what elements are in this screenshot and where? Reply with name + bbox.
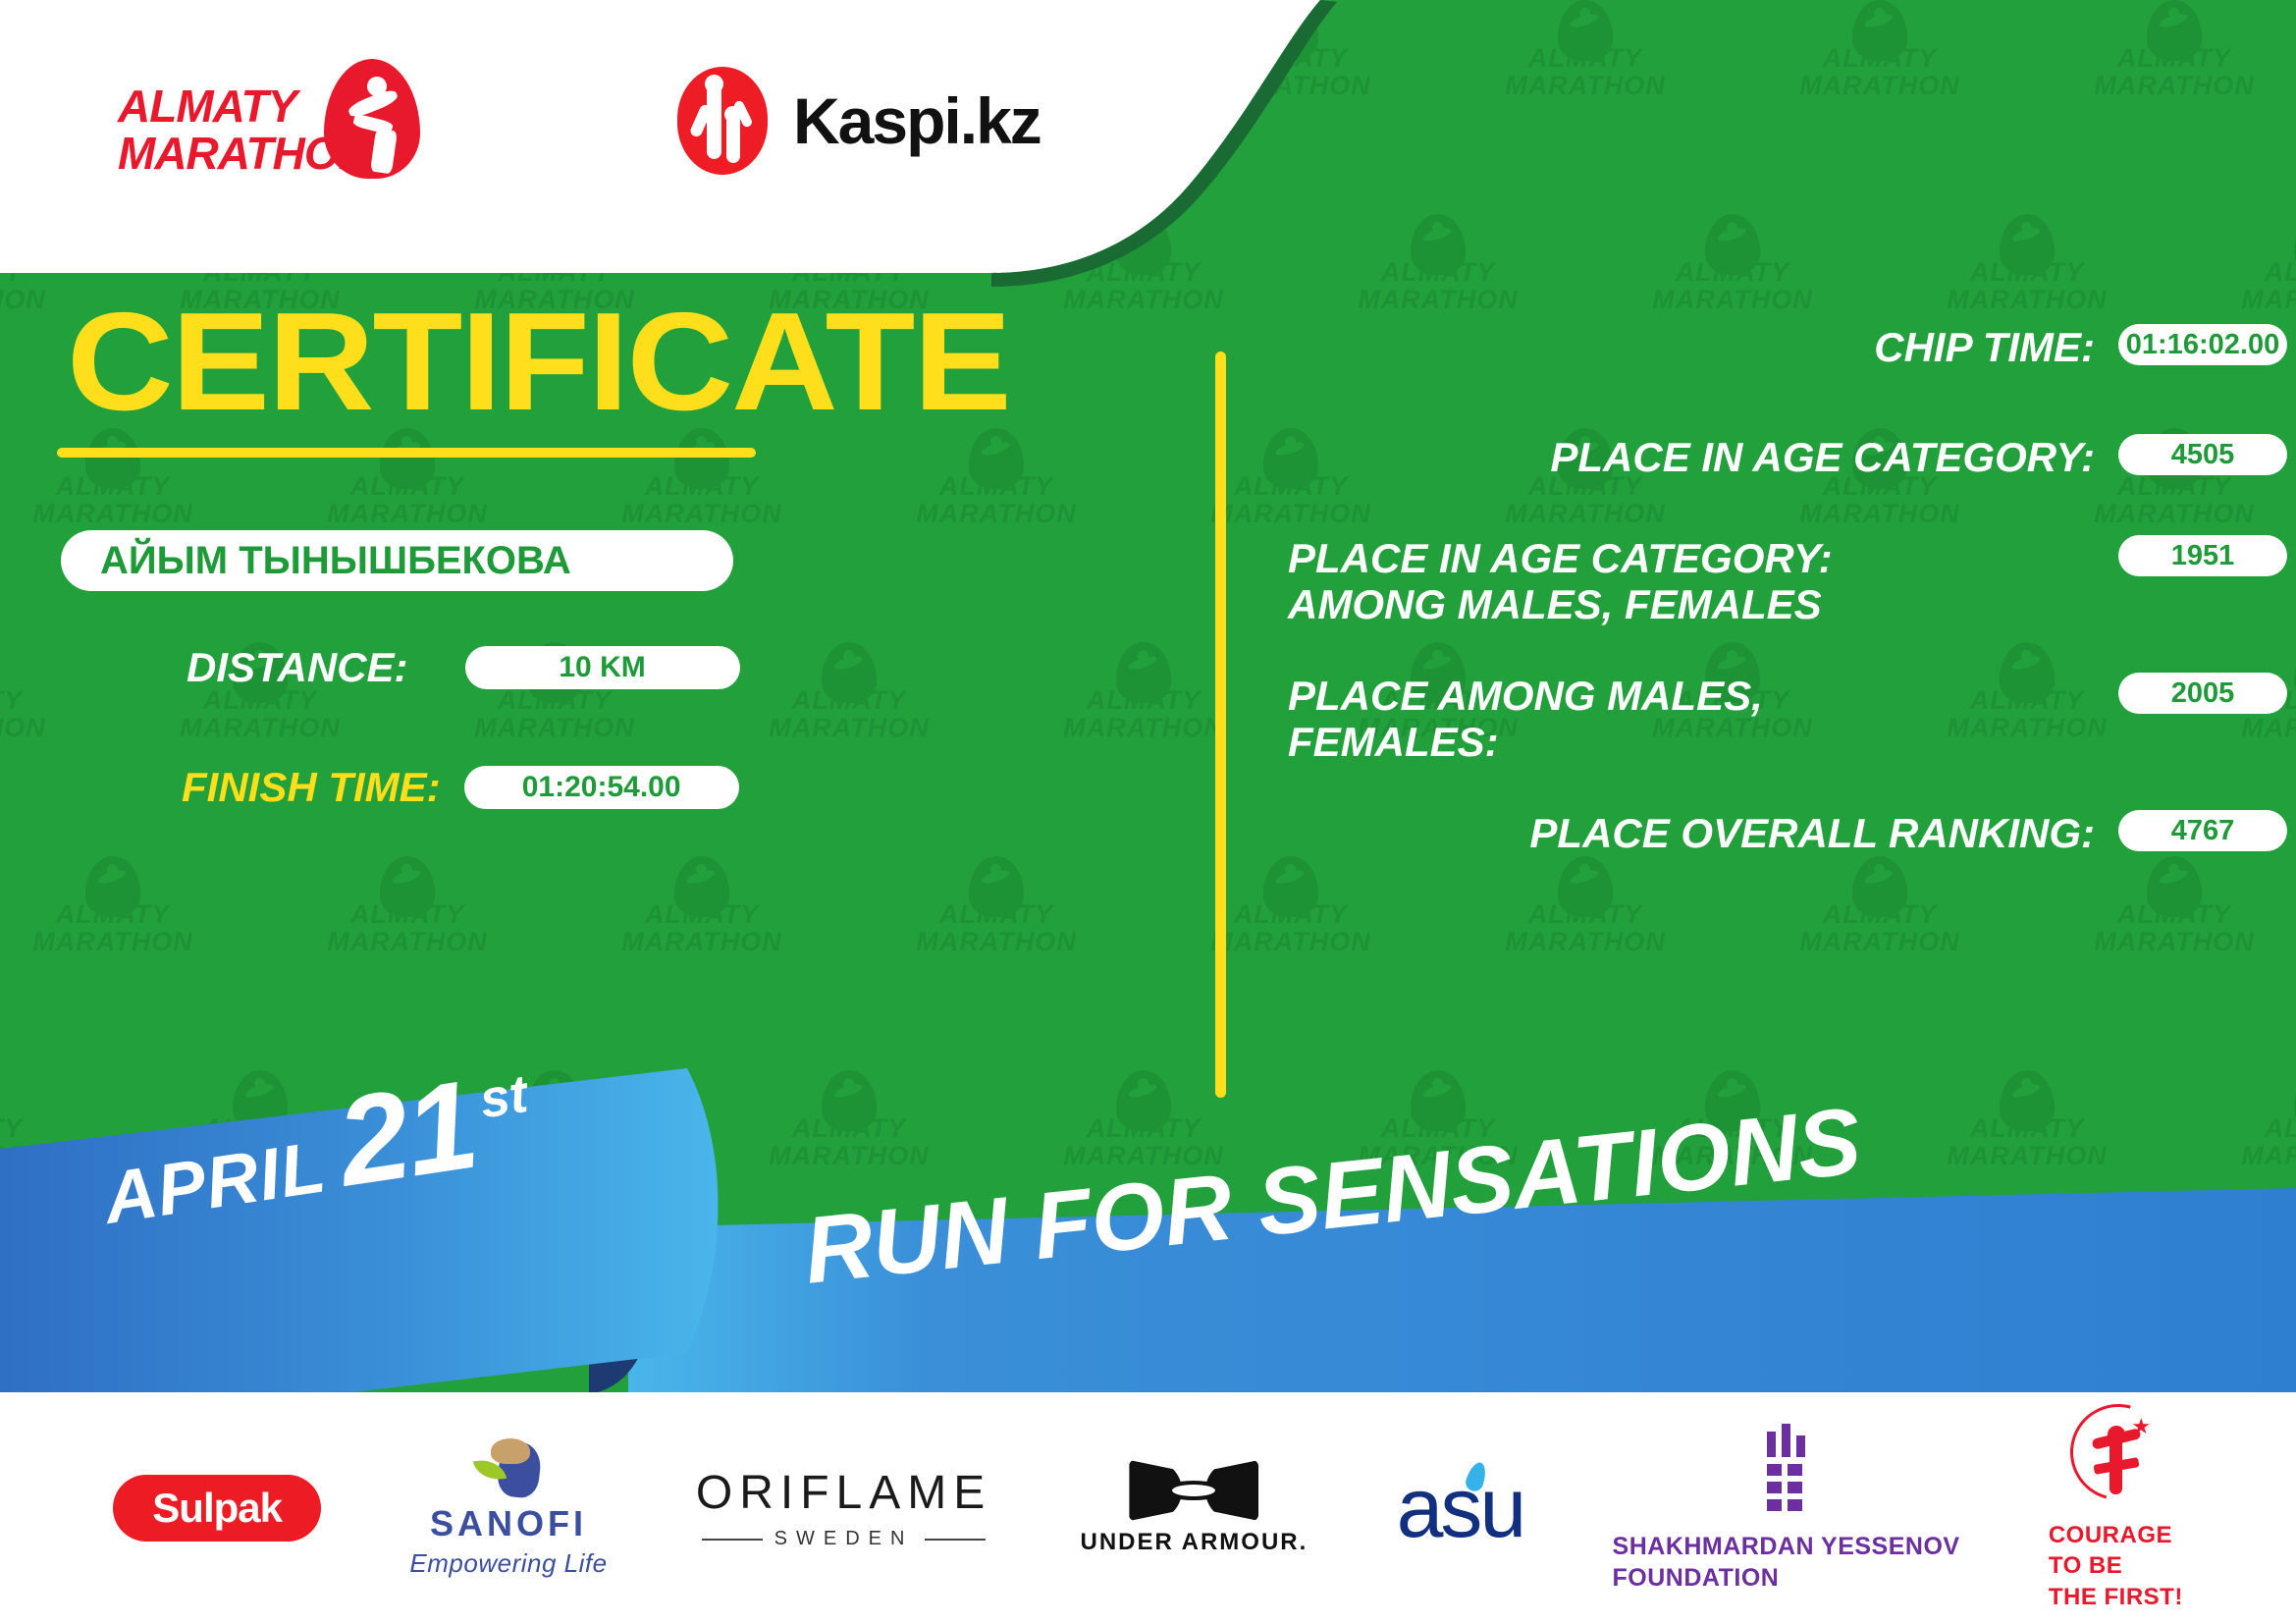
under-armour-wordmark: UNDER ARMOUR. <box>1081 1529 1308 1556</box>
watermark-tile: ALMATYMARATHON <box>883 1284 1109 1383</box>
result-row-place-among-males-females: PLACE AMONG MALES,FEMALES: 2005 <box>1237 673 2287 765</box>
place-overall-ranking-label: PLACE OVERALL RANKING: <box>1237 810 2118 856</box>
sponsor-shakhmardan-yessenov: SHAKHMARDAN YESSENOV FOUNDATION <box>1613 1424 1960 1594</box>
place-among-males-females-label: PLACE AMONG MALES,FEMALES: <box>1237 673 2118 765</box>
corporate-fund-wordmark: COURAGE TO BE THE FIRST! <box>2049 1520 2183 1612</box>
finish-time-label: FINISH TIME: <box>182 764 441 811</box>
oriflame-wordmark: ORIFLAME <box>696 1466 991 1520</box>
ribbon-day-ordinal: st <box>476 1067 530 1127</box>
watermark-tile: ALMATYMARATHON <box>589 1284 815 1383</box>
place-age-category-among-label: PLACE IN AGE CATEGORY:AMONG MALES, FEMAL… <box>1237 535 2118 627</box>
almaty-marathon-logo: ALMATY MARATHON <box>118 59 452 187</box>
result-row-chip-time: CHIP TIME: 01:16:02.00 <box>1237 324 2287 370</box>
place-age-category-value: 4505 <box>2118 434 2287 475</box>
kaspi-wordmark: Kaspi.kz <box>793 88 1041 153</box>
kaspi-people-icon <box>677 67 768 175</box>
sponsor-strip: Sulpak SANOFI Empowering Life ORIFLAME S… <box>0 1392 2296 1624</box>
distance-value: 10 KM <box>465 646 740 689</box>
yessenov-line1: SHAKHMARDAN YESSENOV <box>1613 1531 1960 1562</box>
sponsor-oriflame: ORIFLAME SWEDEN <box>696 1466 991 1550</box>
result-row-place-age-category: PLACE IN AGE CATEGORY: 4505 <box>1237 434 2287 480</box>
place-among-males-females-value: 2005 <box>2118 673 2287 714</box>
corporate-fund-icon: ★ <box>2070 1404 2161 1506</box>
watermark-tile: ALMATYMARATHON <box>1472 1284 1698 1383</box>
oriflame-country: SWEDEN <box>774 1528 914 1550</box>
yessenov-grid-icon <box>1767 1464 1805 1511</box>
column-divider <box>1215 352 1226 1098</box>
sponsor-corporate-fund: ★ COURAGE TO BE THE FIRST! <box>2049 1404 2183 1612</box>
sponsor-sanofi: SANOFI Empowering Life <box>409 1438 607 1579</box>
place-overall-ranking-value: 4767 <box>2118 810 2287 851</box>
almaty-marathon-runner-icon <box>324 59 420 179</box>
kaspi-figure-child-head-icon <box>724 106 741 123</box>
kaspi-logo: Kaspi.kz <box>677 67 1041 175</box>
certificate-title: CERTIFICATE <box>67 293 1010 432</box>
yessenov-mark-icon <box>1767 1424 1805 1511</box>
watermark-tile: ALMATYMARATHON <box>1914 1070 2140 1169</box>
result-row-place-overall-ranking: PLACE OVERALL RANKING: 4767 <box>1237 810 2287 856</box>
place-age-category-among-value: 1951 <box>2118 535 2287 576</box>
under-armour-logo-icon <box>1129 1460 1258 1521</box>
ribbon-day: 21 <box>332 1070 483 1200</box>
stat-row-distance: DISTANCE: 10 KM <box>187 644 740 691</box>
left-column: CERTIFICATE АЙЫМ ТЫНЫШБЕКОВА DISTANCE: 1… <box>0 273 1217 1157</box>
chip-time-value: 01:16:02.00 <box>2118 324 2287 365</box>
stat-row-finish-time: FINISH TIME: 01:20:54.00 <box>182 764 739 811</box>
watermark-tile: ALMATYMARATHON <box>2061 856 2287 955</box>
corporate-fund-line3: THE FIRST! <box>2049 1582 2183 1612</box>
finish-time-value: 01:20:54.00 <box>464 766 739 809</box>
title-underline-rule <box>57 448 756 458</box>
watermark-tile: ALMATYMARATHON <box>1767 856 1993 955</box>
sanofi-tagline: Empowering Life <box>409 1548 607 1579</box>
watermark-tile: ALMATYMARATHON <box>1178 1284 1404 1383</box>
runner-leg2-icon <box>370 129 398 175</box>
oriflame-rule-left <box>702 1539 763 1541</box>
sanofi-mark-icon <box>471 1438 546 1497</box>
sulpak-logo: Sulpak <box>113 1475 321 1542</box>
sponsor-sulpak: Sulpak <box>113 1475 321 1542</box>
corporate-fund-line2: TO BE <box>2049 1550 2183 1581</box>
yessenov-wordmark: SHAKHMARDAN YESSENOV FOUNDATION <box>1613 1531 1960 1594</box>
result-row-place-age-category-among: PLACE IN AGE CATEGORY:AMONG MALES, FEMAL… <box>1237 535 2287 627</box>
watermark-tile: ALMATYMARATHON <box>2209 1070 2296 1169</box>
sponsor-asu: asu <box>1397 1466 1524 1550</box>
watermark-tile: ALMATYMARATHON <box>2061 1284 2287 1383</box>
sulpak-wordmark: Sulpak <box>152 1485 282 1532</box>
kaspi-figure-adult-head-icon <box>705 75 723 93</box>
place-age-category-label: PLACE IN AGE CATEGORY: <box>1237 434 2118 480</box>
yessenov-bars-icon <box>1767 1424 1805 1457</box>
sponsor-under-armour: UNDER ARMOUR. <box>1081 1460 1308 1556</box>
corporate-fund-line1: COURAGE <box>2049 1520 2183 1550</box>
watermark-tile: ALMATYMARATHON <box>294 1284 520 1383</box>
certificate-root: ALMATYMARATHONALMATYMARATHONALMATYMARATH… <box>0 0 2296 1624</box>
oriflame-subline: SWEDEN <box>702 1528 987 1550</box>
participant-name-field: АЙЫМ ТЫНЫШБЕКОВА <box>61 530 733 591</box>
chip-time-label: CHIP TIME: <box>1237 324 2118 370</box>
watermark-tile: ALMATYMARATHON <box>1472 856 1698 955</box>
distance-label: DISTANCE: <box>187 644 408 691</box>
watermark-tile: ALMATYMARATHON <box>0 1284 226 1383</box>
kaspi-figure-adult-icon <box>707 82 721 159</box>
watermark-tile: ALMATYMARATHON <box>1767 1284 1993 1383</box>
sanofi-tan-icon <box>491 1438 530 1464</box>
participant-name-value: АЙЫМ ТЫНЫШБЕКОВА <box>61 539 571 583</box>
yessenov-line2: FOUNDATION <box>1613 1562 1960 1594</box>
corporate-fund-star-icon: ★ <box>2131 1416 2151 1437</box>
sanofi-wordmark: SANOFI <box>430 1503 587 1544</box>
asu-wordmark: asu <box>1397 1466 1524 1550</box>
oriflame-rule-right <box>925 1539 986 1541</box>
